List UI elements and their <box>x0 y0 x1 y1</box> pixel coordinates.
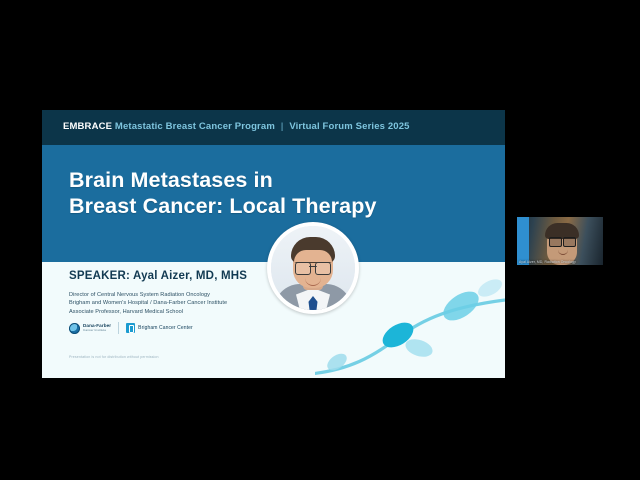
brigham-mark-icon <box>126 323 135 333</box>
affiliation-line-2: Brigham and Women's Hospital / Dana-Farb… <box>69 299 227 307</box>
webcam-eyeglasses-icon <box>549 237 576 245</box>
logo-row: Dana-Farber Cancer Institute Brigham Can… <box>69 322 193 334</box>
slide-header-band: EMBRACE Metastatic Breast Cancer Program… <box>42 110 505 145</box>
slide-header-text: EMBRACE Metastatic Breast Cancer Program… <box>63 121 410 132</box>
webcam-participant-name: Ayal Aizer, MD, Radiation Oncology <box>519 260 576 264</box>
program-brand: EMBRACE <box>63 121 112 132</box>
webcam-side-strip <box>517 217 529 265</box>
program-name: Metastatic Breast Cancer Program <box>115 121 275 132</box>
webcam-name-label: Ayal Aizer, MD, Radiation Oncology <box>519 260 601 264</box>
slide-title: Brain Metastases in Breast Cancer: Local… <box>69 167 377 219</box>
header-separator: | <box>278 121 287 132</box>
series-name: Virtual Forum Series 2025 <box>289 121 409 132</box>
eyeglasses-icon <box>295 262 331 273</box>
logo-divider <box>118 322 119 334</box>
speaker-photo-image <box>271 226 355 310</box>
presentation-slide: EMBRACE Metastatic Breast Cancer Program… <box>42 110 505 378</box>
speaker-webcam-tile[interactable]: Ayal Aizer, MD, Radiation Oncology <box>517 217 603 265</box>
speaker-name: SPEAKER: Ayal Aizer, MD, MHS <box>69 270 247 282</box>
video-player-stage: EMBRACE Metastatic Breast Cancer Program… <box>0 0 640 480</box>
dana-farber-logo-line2: Cancer Institute <box>83 329 111 332</box>
dana-farber-mark-icon <box>69 323 80 334</box>
affiliation-line-3: Associate Professor, Harvard Medical Sch… <box>69 308 227 316</box>
affiliation-line-1: Director of Central Nervous System Radia… <box>69 291 227 299</box>
brigham-cancer-center-logo: Brigham Cancer Center <box>126 323 193 333</box>
brigham-logo-text: Brigham Cancer Center <box>138 325 193 331</box>
dana-farber-logo: Dana-Farber Cancer Institute <box>69 323 111 334</box>
speaker-affiliations: Director of Central Nervous System Radia… <box>69 291 227 316</box>
slide-disclaimer: Presentation is not for distribution wit… <box>69 355 159 359</box>
speaker-photo <box>267 222 359 314</box>
